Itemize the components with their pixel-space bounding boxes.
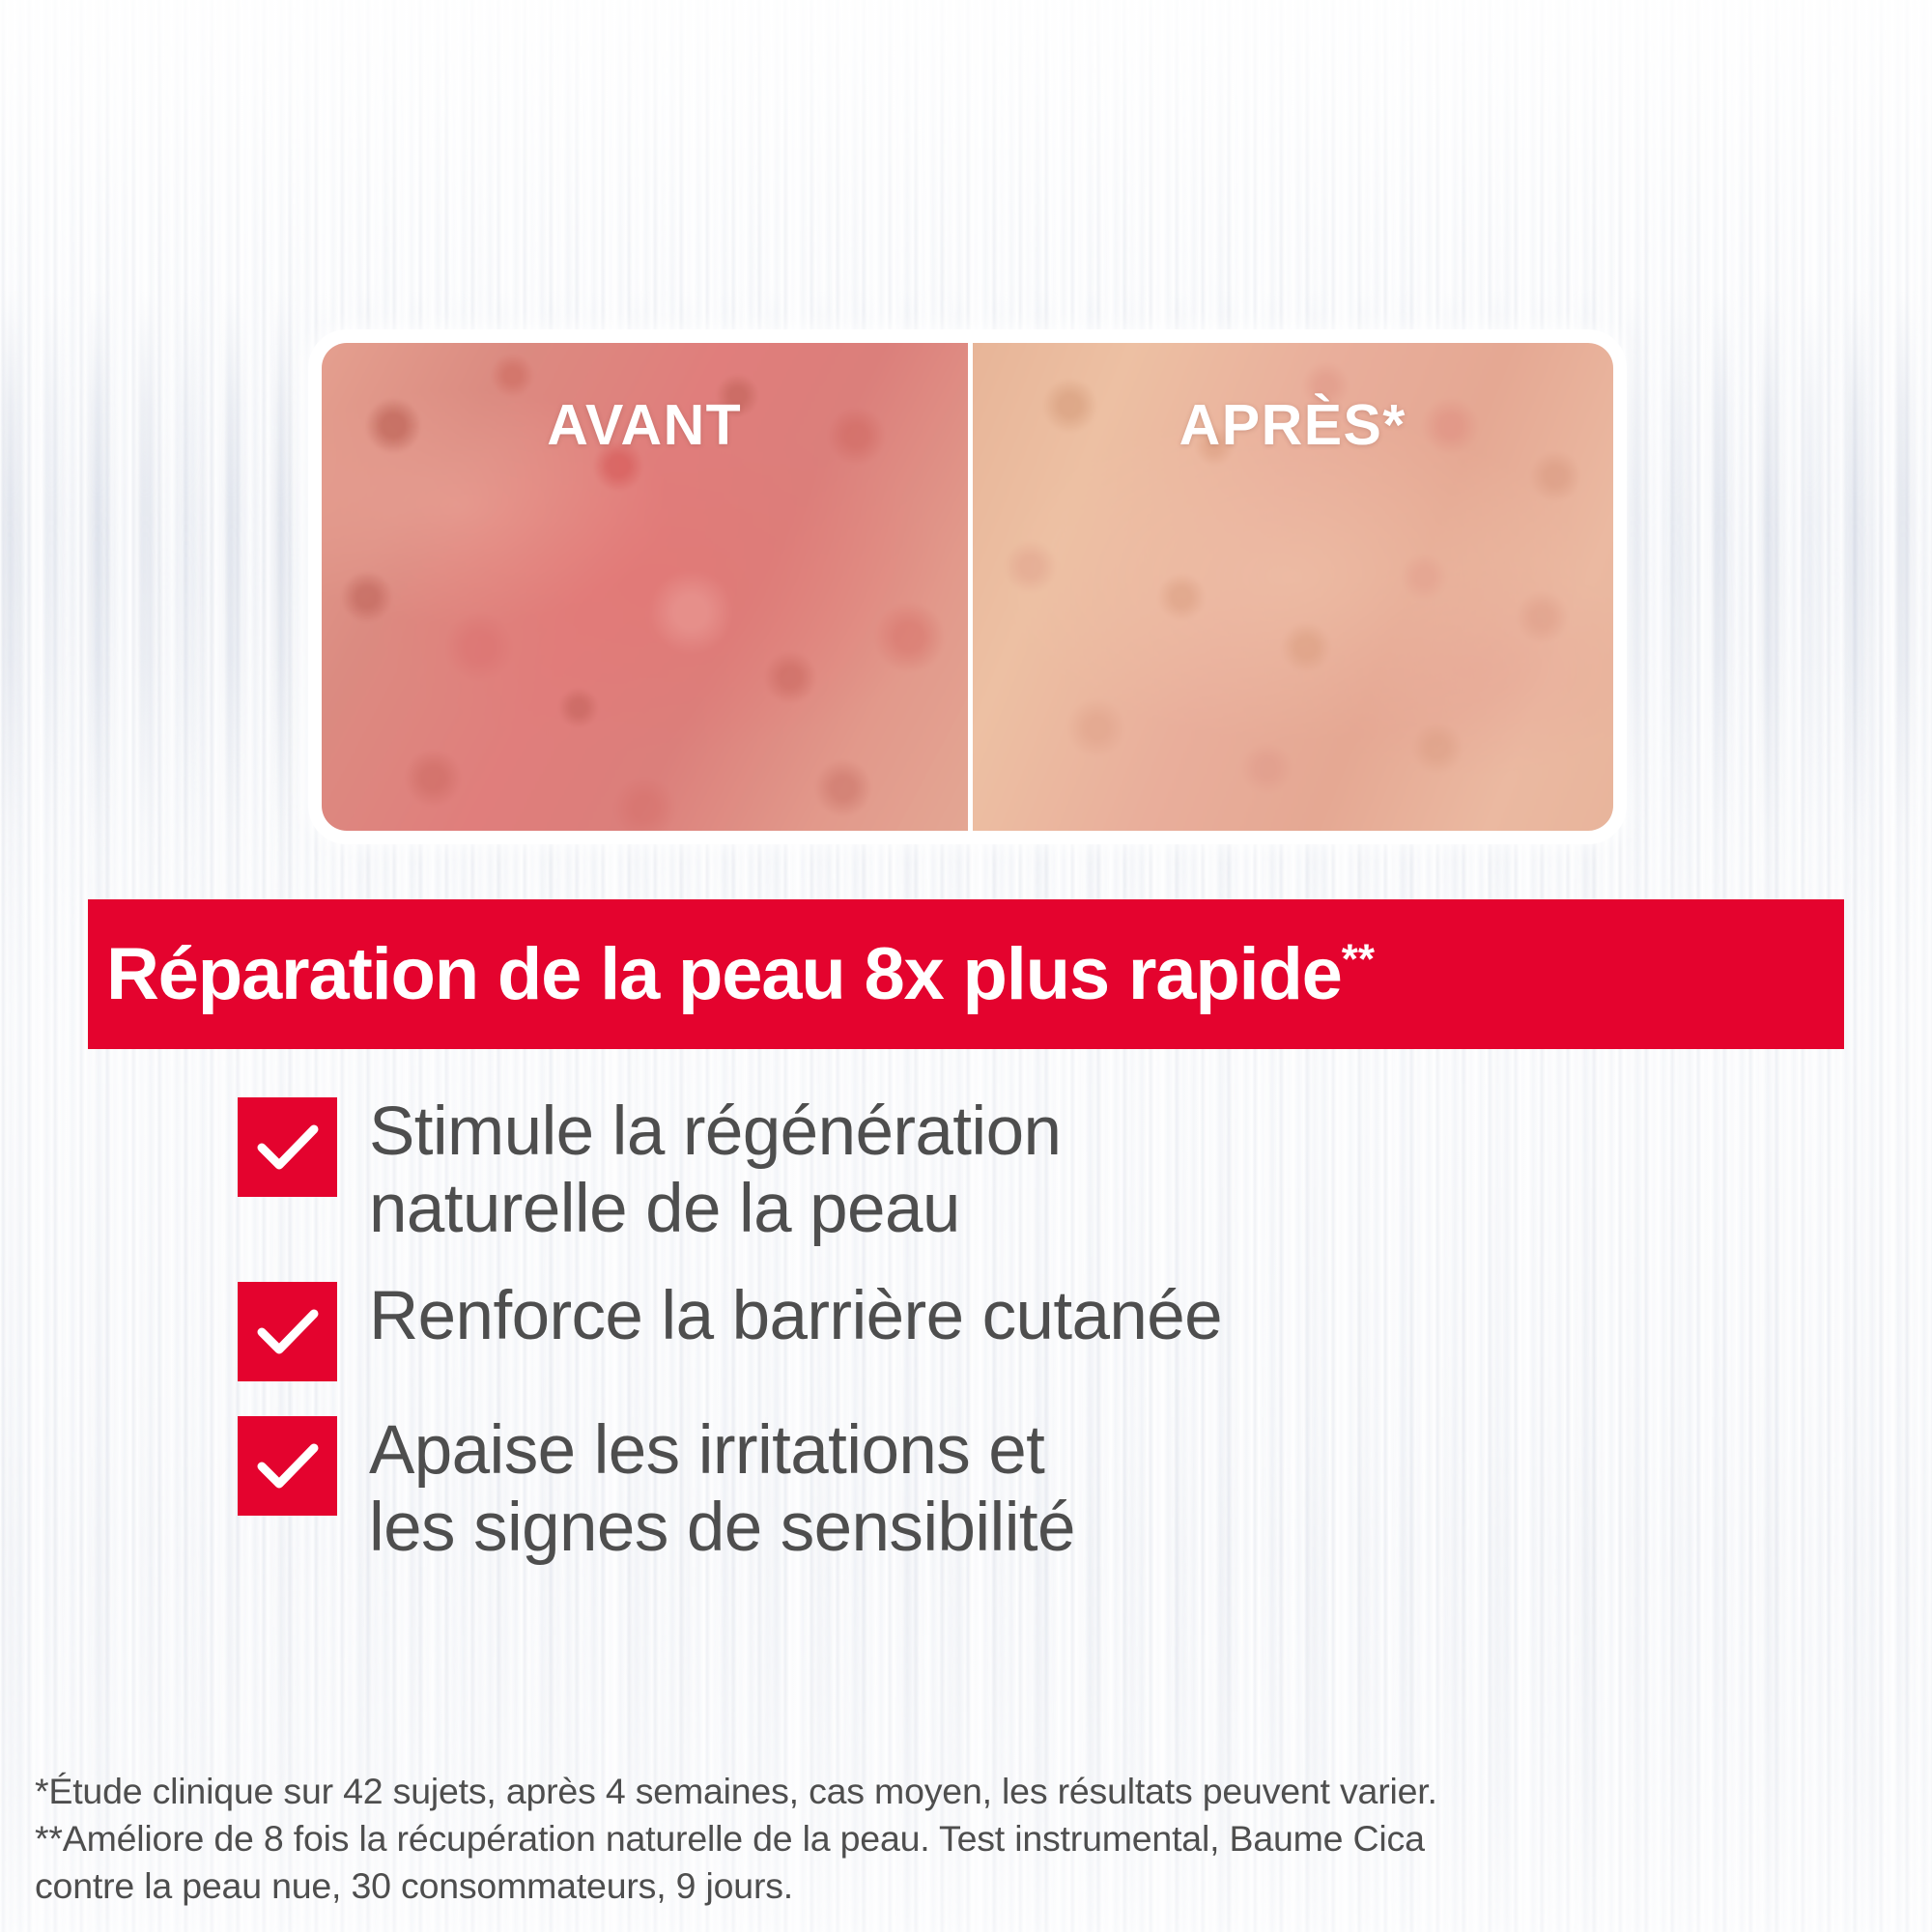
check-icon (238, 1282, 337, 1381)
footnote-single-asterisk: *Étude clinique sur 42 sujets, après 4 s… (35, 1768, 1899, 1815)
benefit-label: Apaise les irritations et les signes de … (369, 1408, 1075, 1566)
check-icon (238, 1097, 337, 1197)
product-claim-panel: AVANT APRÈS* Réparation de la peau 8x pl… (0, 0, 1932, 1932)
check-icon (238, 1416, 337, 1516)
after-label: APRÈS* (973, 397, 1614, 454)
list-item: Apaise les irritations et les signes de … (238, 1408, 1783, 1566)
headline-text-wrapper: Réparation de la peau 8x plus rapide** (88, 938, 1375, 1011)
benefit-label: Stimule la régénération naturelle de la … (369, 1090, 1061, 1247)
headline-claim: Réparation de la peau 8x plus rapide (106, 933, 1342, 1015)
benefits-list: Stimule la régénération naturelle de la … (238, 1090, 1783, 1566)
before-after-comparison-card: AVANT APRÈS* (322, 343, 1613, 831)
after-photo-pane: APRÈS* (968, 343, 1614, 831)
headline-banner: Réparation de la peau 8x plus rapide** (88, 899, 1844, 1049)
before-label: AVANT (322, 397, 968, 454)
footnote-double-asterisk: **Améliore de 8 fois la récupération nat… (35, 1815, 1899, 1910)
list-item: Renforce la barrière cutanée (238, 1274, 1783, 1381)
footnotes-block: *Étude clinique sur 42 sujets, après 4 s… (35, 1768, 1899, 1909)
benefit-label: Renforce la barrière cutanée (369, 1274, 1222, 1355)
list-item: Stimule la régénération naturelle de la … (238, 1090, 1783, 1247)
before-photo-pane: AVANT (322, 343, 968, 831)
headline-footnote-marker: ** (1342, 935, 1375, 982)
